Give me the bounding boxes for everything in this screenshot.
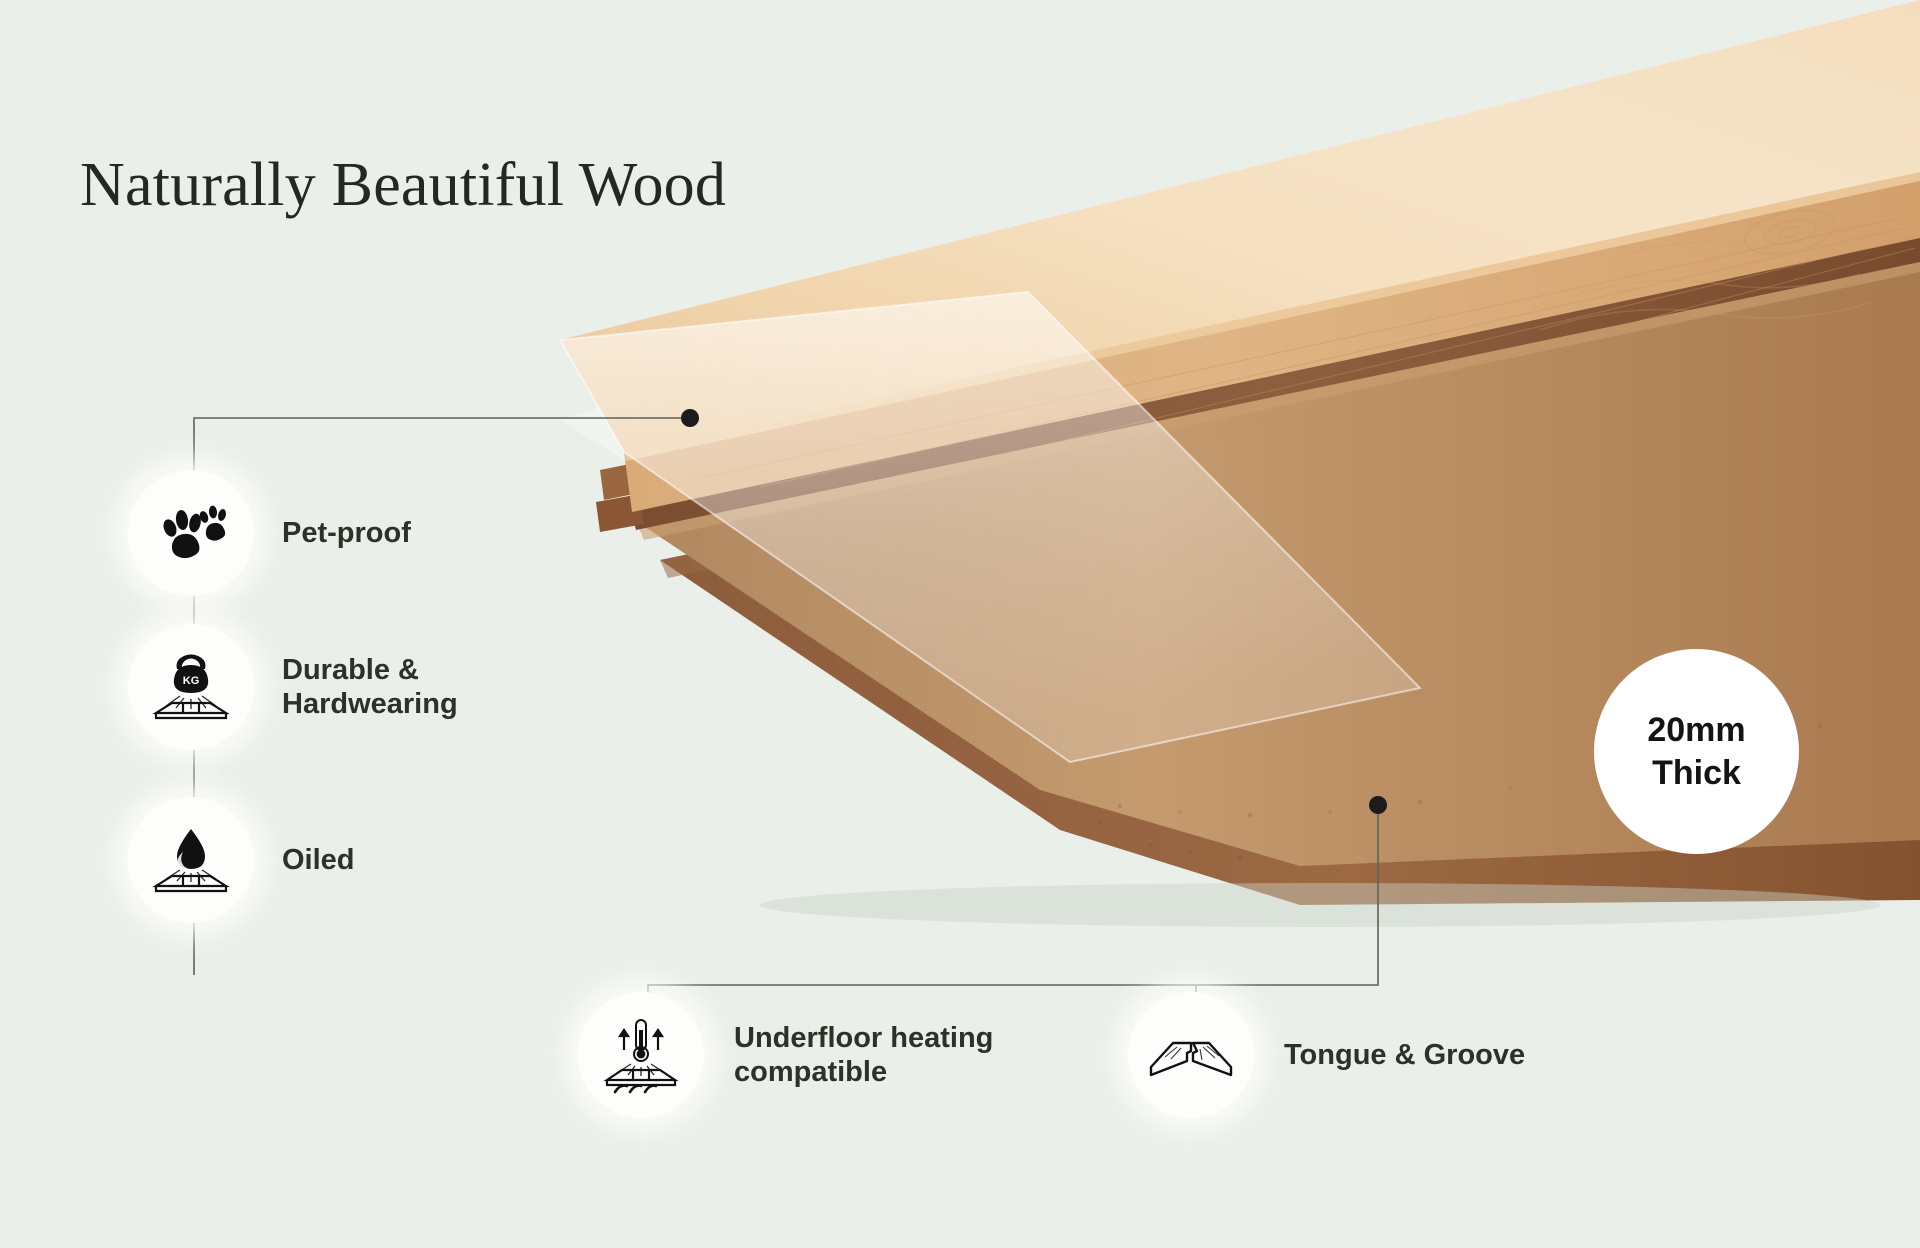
two-interlocking-planks-icon [1147,1027,1235,1083]
feature-label: Oiled [282,843,355,877]
callout-dot-surface [681,409,699,427]
paw-print-icon [154,503,228,563]
feature-label: Pet-proof [282,516,411,550]
kettlebell-weight-label: KG [183,675,200,687]
oil-droplet-on-plank-icon [150,824,232,896]
thickness-badge-label: 20mm Thick [1647,709,1745,793]
feature-label: Tongue & Groove [1284,1038,1525,1072]
feature-icon-badge [128,470,254,596]
thickness-badge[interactable]: 20mm Thick [1594,649,1799,854]
feature-icon-badge [1128,992,1254,1118]
feature-label: Durable & Hardwearing [282,653,458,721]
thermometer-on-plank-icon [599,1016,683,1094]
feature-icon-badge: KG [128,624,254,750]
feature-tongue-and-groove[interactable]: Tongue & Groove [1128,992,1525,1118]
kettlebell-on-plank-icon: KG [150,651,232,723]
feature-label: Underfloor heating compatible [734,1021,993,1089]
feature-pet-proof[interactable]: Pet-proof [128,470,411,596]
infographic-canvas: Naturally Beautiful Wood Pet-proof [0,0,1920,1248]
feature-oiled[interactable]: Oiled [128,797,355,923]
callout-dot-edge [1369,796,1387,814]
feature-durable-hardwearing[interactable]: KG Durable & Hardwearing [128,624,458,750]
feature-icon-badge [578,992,704,1118]
feature-icon-badge [128,797,254,923]
page-title: Naturally Beautiful Wood [80,150,726,221]
feature-underfloor-heating[interactable]: Underfloor heating compatible [578,992,993,1118]
